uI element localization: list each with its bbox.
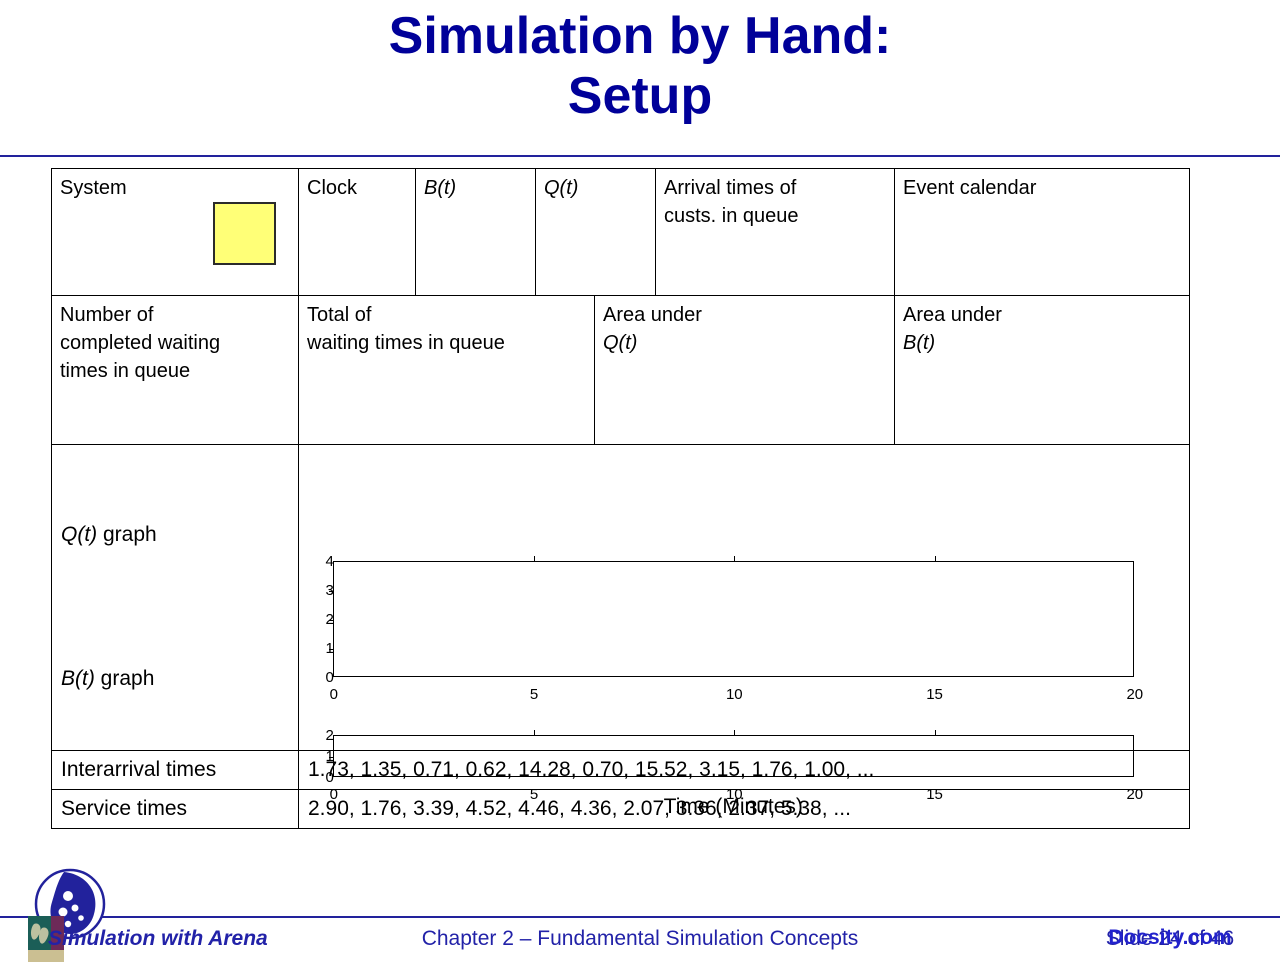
footer-divider (0, 916, 1280, 918)
docsity-watermark: Docsity.com (1070, 926, 1270, 950)
y-axis-tick-label: 2 (306, 728, 334, 743)
y-axis-tick-mark (329, 591, 334, 592)
service-times-label: Service times (52, 790, 299, 828)
x-axis-tick-label: 15 (926, 687, 943, 702)
cell-event-calendar[interactable]: Event calendar (895, 169, 1189, 295)
y-axis-tick-mark (329, 757, 334, 758)
x-axis-tick-mark (534, 730, 535, 736)
b-graph-row-label-var: B(t) (61, 667, 95, 690)
cell-area-under-b-line-2: B(t) (903, 329, 1189, 357)
y-axis-tick-label: 4 (306, 554, 334, 569)
cell-arrival-times-line-1: Arrival times of (664, 174, 894, 202)
x-axis-tick-mark (534, 556, 535, 562)
cell-number-completed-line-2: completed waiting (60, 329, 298, 357)
cell-area-under-q-line-1: Area under (603, 301, 894, 329)
b-graph-plot[interactable]: 01205101520 (333, 735, 1134, 777)
cell-arrival-times[interactable]: Arrival times of custs. in queue (656, 169, 895, 295)
graph-plot-area: 0123405101520 01205101520 Time (Minutes) (299, 445, 1189, 750)
x-axis-tick-mark (935, 556, 936, 562)
q-graph-row-label: Q(t) graph (61, 523, 157, 547)
x-axis-tick-mark (935, 730, 936, 736)
title-divider (0, 155, 1280, 157)
cell-clock[interactable]: Clock (299, 169, 416, 295)
y-axis-tick-label: 0 (306, 670, 334, 685)
cell-total-waiting-times[interactable]: Total of waiting times in queue (299, 296, 595, 444)
q-graph-row-label-var: Q(t) (61, 523, 97, 546)
worksheet-row-state: System Clock B(t) Q(t) Arrival times of … (52, 169, 1189, 296)
cell-q-of-t-label: Q(t) (544, 177, 578, 199)
x-axis-tick-label: 20 (1126, 687, 1143, 702)
cell-area-under-b-line-1: Area under (903, 301, 1189, 329)
cell-event-calendar-label: Event calendar (903, 177, 1036, 199)
cell-area-under-b[interactable]: Area under B(t) (895, 296, 1189, 444)
cell-system[interactable]: System (52, 169, 299, 295)
cell-total-waiting-line-2: waiting times in queue (307, 329, 594, 357)
x-axis-tick-label: 0 (330, 687, 338, 702)
cell-b-of-t[interactable]: B(t) (416, 169, 536, 295)
worksheet-row-statistics: Number of completed waiting times in que… (52, 296, 1189, 445)
b-graph-row-label: B(t) graph (61, 667, 154, 691)
q-graph-plot[interactable]: 0123405101520 (333, 561, 1134, 677)
y-axis-tick-mark (329, 649, 334, 650)
x-axis-tick-mark (734, 556, 735, 562)
page-title-line-1: Simulation by Hand: (389, 7, 892, 65)
x-axis-tick-label: 5 (530, 687, 538, 702)
x-axis-tick-label: 10 (726, 687, 743, 702)
entity-box (213, 202, 276, 265)
interarrival-times-label: Interarrival times (52, 751, 299, 789)
worksheet-row-graphs: Q(t) graph B(t) graph 0123405101520 0120… (52, 445, 1189, 750)
cell-area-under-q[interactable]: Area under Q(t) (595, 296, 895, 444)
cell-total-waiting-line-1: Total of (307, 301, 594, 329)
cell-area-under-q-line-2: Q(t) (603, 329, 894, 357)
cell-arrival-times-line-2: custs. in queue (664, 202, 894, 230)
q-graph-row-label-rest: graph (97, 523, 157, 546)
cell-number-completed-line-1: Number of (60, 301, 298, 329)
cell-q-of-t[interactable]: Q(t) (536, 169, 656, 295)
cell-b-of-t-label: B(t) (424, 177, 456, 199)
cell-number-completed-waiting-times[interactable]: Number of completed waiting times in que… (52, 296, 299, 444)
simulation-worksheet: System Clock B(t) Q(t) Arrival times of … (51, 168, 1190, 829)
page-title: Simulation by Hand: Setup (0, 6, 1280, 126)
y-axis-tick-label: 0 (306, 770, 334, 785)
time-axis-title: Time (Minutes) (333, 795, 1134, 819)
graph-row-labels: Q(t) graph B(t) graph (52, 445, 299, 750)
page-title-line-2: Setup (0, 66, 1280, 126)
cell-number-completed-line-3: times in queue (60, 357, 298, 385)
y-axis-tick-mark (329, 620, 334, 621)
b-graph-row-label-rest: graph (95, 667, 155, 690)
cell-system-label: System (60, 177, 127, 199)
cell-clock-label: Clock (307, 177, 357, 199)
x-axis-tick-mark (734, 730, 735, 736)
